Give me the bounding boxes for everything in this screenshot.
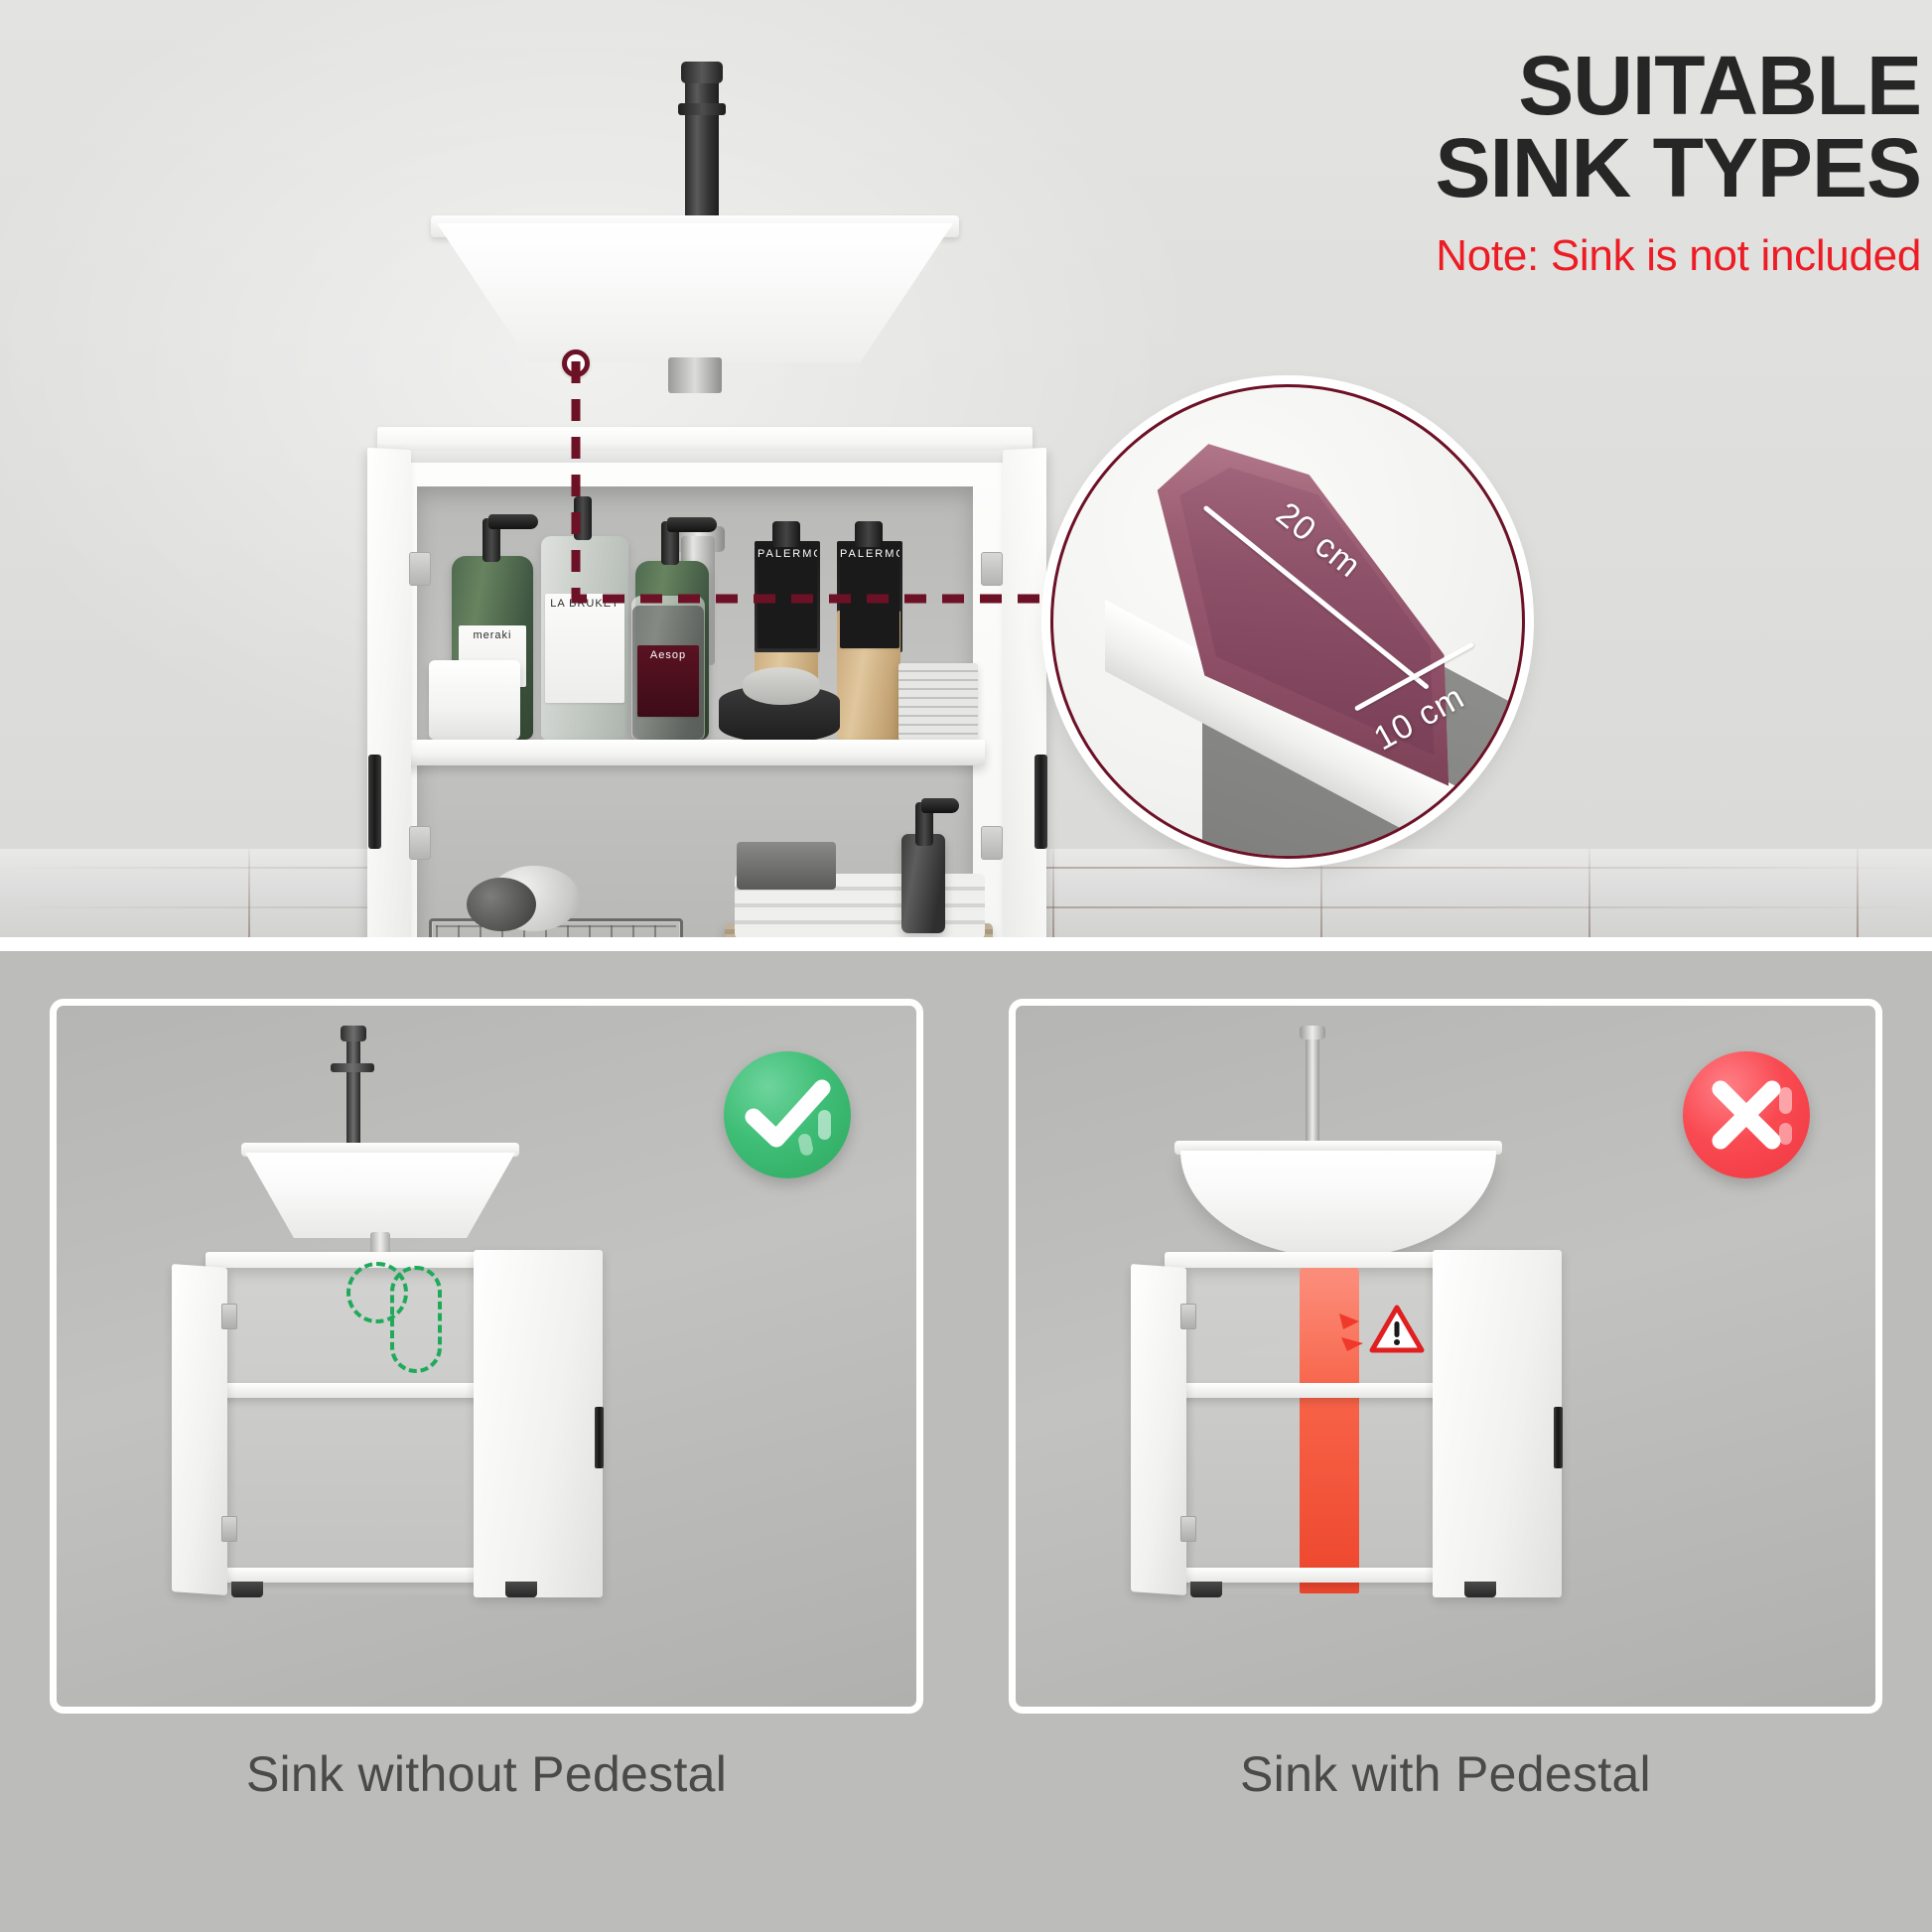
sink-drain bbox=[668, 357, 722, 393]
pump-head-icon bbox=[574, 496, 592, 540]
product-label: LA BRUKET bbox=[545, 594, 624, 703]
pump-arm-icon bbox=[667, 517, 717, 532]
mini-faucet bbox=[1306, 1032, 1319, 1151]
cross-icon bbox=[1683, 1051, 1810, 1178]
headline-block: SUITABLE SINK TYPES Note: Sink is not in… bbox=[1097, 45, 1921, 281]
door-handle-right[interactable] bbox=[1035, 755, 1047, 849]
list-item bbox=[898, 663, 978, 741]
mini-door-handle[interactable] bbox=[1554, 1407, 1563, 1468]
door-handle-left[interactable] bbox=[368, 755, 381, 849]
caption-sink-with-pedestal: Sink with Pedestal bbox=[1009, 1745, 1882, 1803]
page-title-line1: SUITABLE bbox=[1097, 45, 1921, 127]
faucet-lever bbox=[678, 103, 726, 115]
product-brand: PALERMO bbox=[758, 548, 817, 562]
hero-product-scene: meraki LA BRUKET Aesop PALERMO PALERMO bbox=[0, 0, 1932, 937]
mini-faucet-cap-icon bbox=[341, 1026, 366, 1041]
hinge-icon bbox=[409, 552, 431, 586]
towel-roll bbox=[467, 878, 536, 931]
mini-door-left[interactable] bbox=[1131, 1264, 1186, 1595]
mini-door-right[interactable] bbox=[1433, 1250, 1562, 1597]
cabinet-door-right[interactable] bbox=[1003, 448, 1046, 937]
cabinet-top-panel bbox=[377, 427, 1033, 453]
mini-cabinet-foot bbox=[1464, 1582, 1496, 1597]
mini-faucet-cap-icon bbox=[1300, 1026, 1325, 1039]
panel-sink-with-pedestal bbox=[1009, 999, 1882, 1714]
pump-arm-icon bbox=[488, 514, 538, 529]
cabinet-middle-shelf bbox=[405, 740, 985, 765]
comparison-section: Sink without Pedestal bbox=[0, 937, 1932, 1932]
mini-door-left[interactable] bbox=[172, 1264, 227, 1595]
mini-faucet-lever bbox=[331, 1063, 374, 1072]
check-icon bbox=[724, 1051, 851, 1178]
mini-cabinet-foot bbox=[1190, 1582, 1222, 1597]
mini-door-right[interactable] bbox=[474, 1250, 603, 1597]
mini-cabinet-foot bbox=[231, 1582, 263, 1597]
note-text: Note: Sink is not included bbox=[1097, 231, 1921, 281]
product-label: PALERMO bbox=[840, 544, 899, 648]
product-label: PALERMO bbox=[758, 544, 817, 648]
product-brand: PALERMO bbox=[840, 548, 899, 562]
caption-sink-without-pedestal: Sink without Pedestal bbox=[50, 1745, 923, 1803]
mini-faucet bbox=[346, 1032, 360, 1151]
list-item bbox=[901, 834, 945, 933]
bottle-cap-icon bbox=[772, 521, 800, 547]
dimension-callout-circle: 20 cm 10 cm bbox=[1050, 384, 1525, 859]
hinge-icon bbox=[221, 1516, 237, 1542]
product-brand: LA BRUKET bbox=[545, 598, 624, 612]
mini-sink-basin-round bbox=[1180, 1151, 1496, 1258]
product-brand: meraki bbox=[459, 629, 526, 643]
cabinet-door-left[interactable] bbox=[367, 448, 411, 937]
pump-arm-icon bbox=[921, 798, 959, 813]
bottle-cap-icon bbox=[855, 521, 883, 547]
product-label: Aesop bbox=[637, 645, 699, 717]
soap-bar bbox=[743, 667, 820, 705]
mini-cabinet-foot bbox=[505, 1582, 537, 1597]
mini-door-handle[interactable] bbox=[595, 1407, 604, 1468]
list-item bbox=[429, 660, 520, 740]
status-badge-ok bbox=[724, 1051, 851, 1178]
hinge-icon bbox=[981, 826, 1003, 860]
hinge-icon bbox=[1180, 1304, 1196, 1329]
hinge-icon bbox=[981, 552, 1003, 586]
status-badge-not-ok bbox=[1683, 1051, 1810, 1178]
comb-set bbox=[737, 842, 836, 890]
callout-anchor-dot bbox=[562, 349, 590, 377]
hinge-icon bbox=[409, 826, 431, 860]
hinge-icon bbox=[221, 1304, 237, 1329]
panel-sink-without-pedestal bbox=[50, 999, 923, 1714]
product-brand: Aesop bbox=[637, 649, 699, 663]
faucet-cap-icon bbox=[681, 62, 723, 83]
page-title-line2: SINK TYPES bbox=[1097, 127, 1921, 209]
mini-sink-basin bbox=[245, 1153, 515, 1238]
hinge-icon bbox=[1180, 1516, 1196, 1542]
impact-spark-icon bbox=[1337, 1310, 1379, 1355]
clearance-ok-slot-marker bbox=[390, 1266, 442, 1373]
